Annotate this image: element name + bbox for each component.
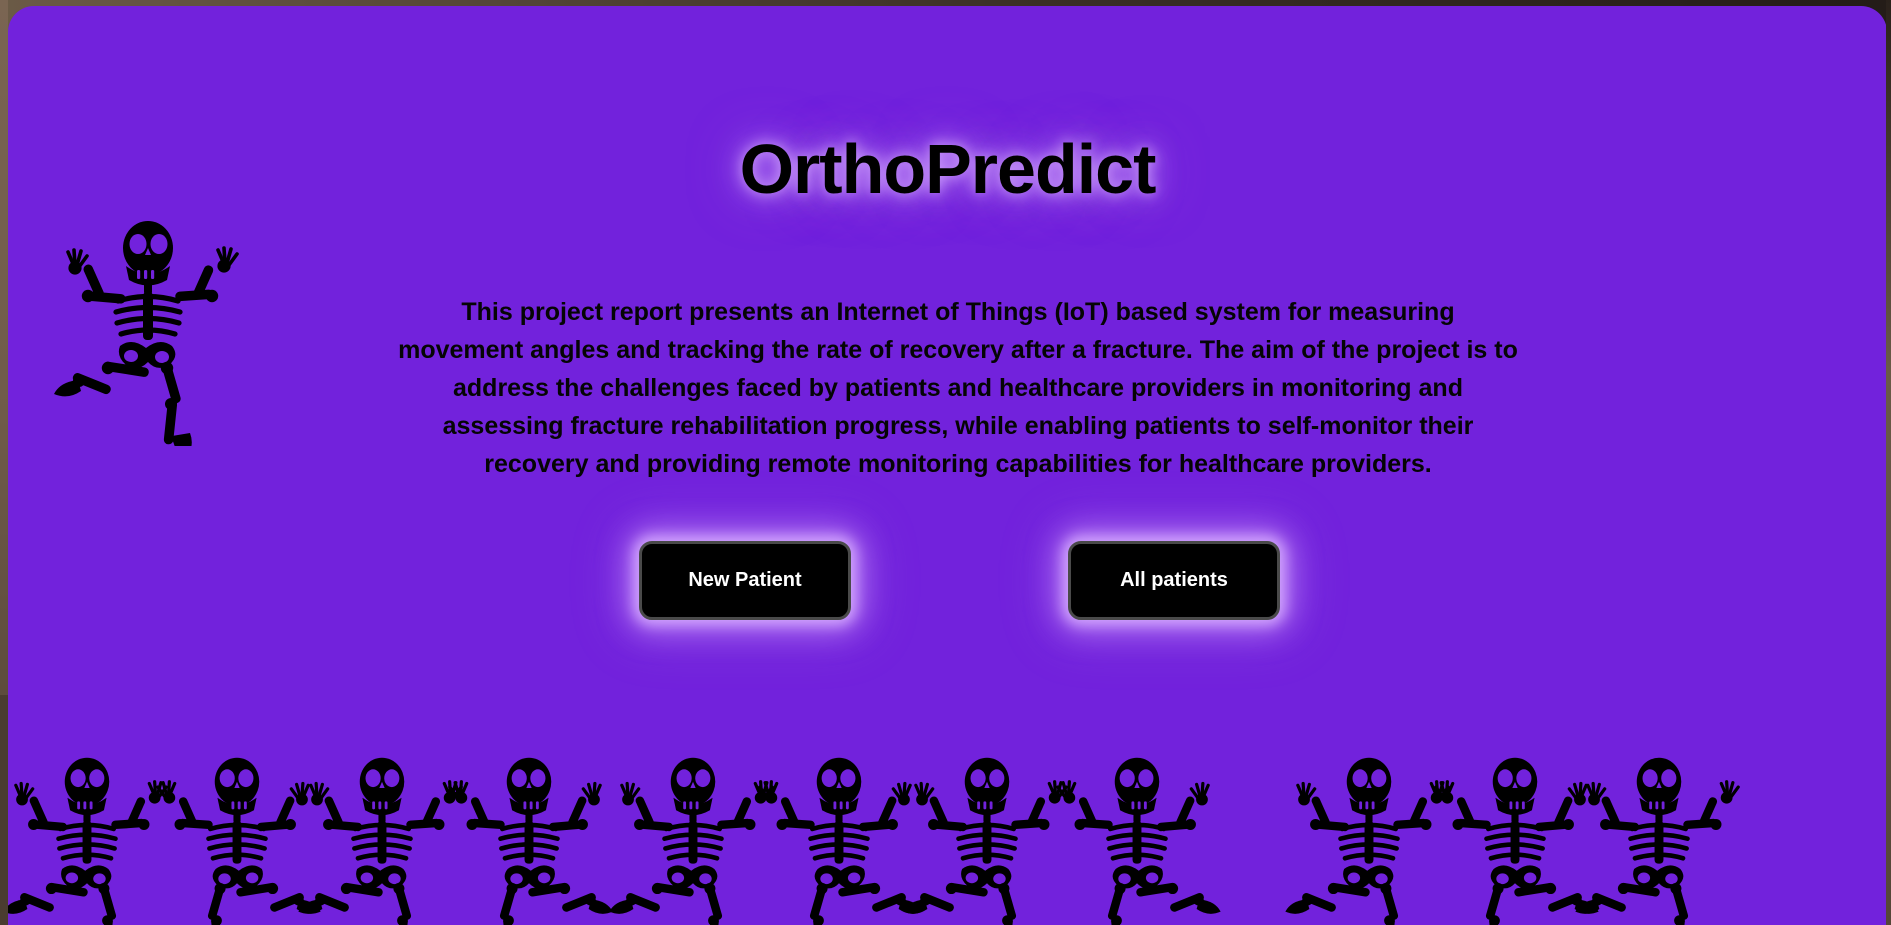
dancing-skeleton-icon: [1570, 754, 1748, 925]
all-patients-button[interactable]: All patients: [1068, 541, 1280, 620]
window-left-edge-lower: [0, 695, 8, 925]
browser-viewport: OrthoPredict: [0, 0, 1891, 925]
skeleton-decoration-band: [8, 725, 1887, 925]
new-patient-button[interactable]: New Patient: [639, 541, 851, 620]
app-page: OrthoPredict: [8, 6, 1887, 925]
dancing-skeleton-icon: [440, 754, 618, 925]
page-title: OrthoPredict: [8, 129, 1887, 209]
dancing-skeleton-icon: [48, 218, 248, 446]
dancing-skeleton-icon: [1048, 754, 1226, 925]
project-description: This project report presents an Internet…: [398, 293, 1518, 483]
window-right-edge: [1886, 0, 1891, 925]
window-left-edge-upper: [0, 0, 8, 695]
action-button-row: New Patient All patients: [8, 541, 1887, 636]
